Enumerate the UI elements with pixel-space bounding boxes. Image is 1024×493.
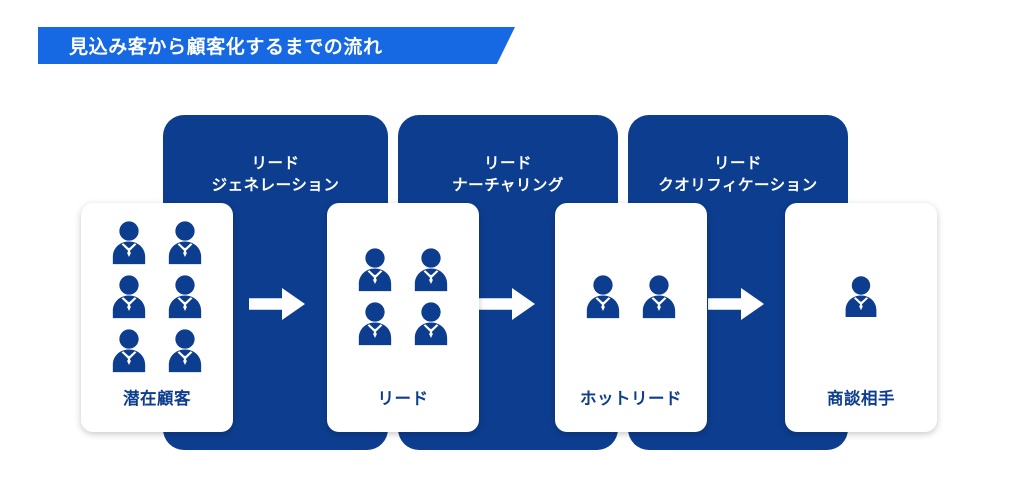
phase-label: リード ナーチャリング (398, 153, 618, 197)
stage-card-label: 潜在顧客 (123, 385, 191, 409)
person-icon (410, 247, 452, 293)
diagram-canvas: 見込み客から顧客化するまでの流れ リード ジェネレーションリード ナーチャリング… (0, 0, 1024, 493)
arrow-right-icon (708, 286, 764, 322)
person-icon (638, 274, 680, 320)
stage-card-3: ホットリード (555, 203, 707, 432)
person-icon (108, 328, 150, 374)
person-icon (354, 301, 396, 347)
title-banner: 見込み客から顧客化するまでの流れ (38, 27, 515, 64)
stage-card-2: リード (327, 203, 479, 432)
people-group (96, 203, 218, 385)
stage-card-label: 商談相手 (827, 385, 895, 409)
arrow-right-icon (479, 286, 535, 322)
funnel-stage-area: リード ジェネレーションリード ナーチャリングリード クオリフィケーション 潜在… (0, 100, 1024, 470)
person-icon (108, 220, 150, 266)
person-icon (410, 301, 452, 347)
people-group (570, 203, 692, 385)
stage-card-4: 商談相手 (785, 203, 937, 432)
title-banner-text: 見込み客から顧客化するまでの流れ (69, 32, 383, 59)
phase-label: リード ジェネレーション (163, 153, 388, 197)
person-icon (582, 274, 624, 320)
arrow-right-icon (249, 286, 305, 322)
person-icon (841, 275, 881, 319)
person-icon (164, 274, 206, 320)
person-icon (354, 247, 396, 293)
person-icon (164, 328, 206, 374)
people-group (342, 203, 464, 385)
stage-card-1: 潜在顧客 (81, 203, 233, 432)
phase-label: リード クオリフィケーション (628, 153, 848, 197)
stage-card-label: リード (378, 385, 429, 409)
people-group (831, 203, 891, 385)
stage-card-label: ホットリード (580, 385, 682, 409)
person-icon (108, 274, 150, 320)
person-icon (164, 220, 206, 266)
